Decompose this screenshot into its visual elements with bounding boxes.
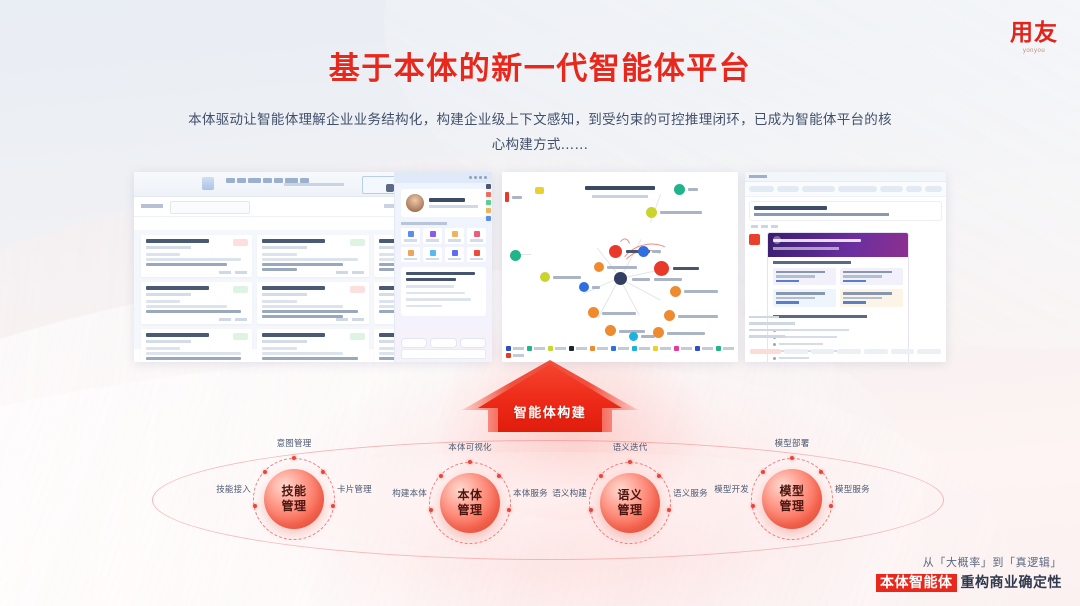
graph-node-label bbox=[632, 278, 650, 281]
app-icon bbox=[202, 177, 214, 190]
assistant-message bbox=[401, 267, 486, 316]
agent-card[interactable] bbox=[141, 282, 252, 324]
legend-item[interactable] bbox=[674, 346, 692, 351]
assistant-side-panel[interactable] bbox=[394, 172, 492, 362]
metric-tile[interactable] bbox=[773, 289, 836, 307]
metric-tile[interactable] bbox=[773, 268, 836, 286]
quick-action[interactable] bbox=[467, 247, 486, 263]
graph-node-label bbox=[673, 267, 699, 270]
graph-node-label bbox=[512, 196, 522, 199]
assistant-profile bbox=[401, 189, 486, 217]
legend-item[interactable] bbox=[653, 346, 671, 351]
node-title-line2: 管理 bbox=[457, 503, 482, 518]
node-title-line2: 管理 bbox=[779, 499, 804, 514]
build-arrow: 智能体构建 bbox=[462, 358, 638, 432]
panel-a-title-text bbox=[284, 183, 344, 186]
result-card-header bbox=[768, 233, 908, 257]
ring-dot bbox=[657, 474, 661, 478]
graph-marker[interactable] bbox=[505, 192, 509, 202]
legend-item[interactable] bbox=[548, 346, 566, 351]
graph-node[interactable] bbox=[670, 286, 681, 297]
ring-dot bbox=[292, 456, 296, 460]
node-sphere[interactable]: 技能 管理 bbox=[264, 469, 324, 529]
node-sphere[interactable]: 本体 管理 bbox=[440, 473, 500, 533]
node-title-line1: 模型 bbox=[779, 484, 804, 499]
legend-item[interactable] bbox=[590, 346, 608, 351]
graph-node-label bbox=[607, 266, 637, 269]
ring-dot bbox=[628, 460, 632, 464]
agent-card[interactable] bbox=[257, 329, 368, 362]
node-caption-top: 模型部署 bbox=[775, 437, 810, 449]
graph-node-label bbox=[678, 315, 718, 318]
assistant-answer bbox=[745, 232, 946, 363]
legend-item[interactable] bbox=[632, 346, 650, 351]
graph-node[interactable] bbox=[605, 325, 616, 336]
quick-actions-grid bbox=[401, 228, 486, 262]
ring-dot bbox=[667, 508, 671, 512]
graph-node[interactable] bbox=[646, 207, 657, 218]
ring-dot bbox=[439, 474, 443, 478]
capability-node-semantic[interactable]: 语义 管理 语义迭代 语义构建 语义服务 bbox=[589, 462, 671, 544]
ring-dot bbox=[321, 470, 325, 474]
slogan-line-1: 从「大概率」到「真逻辑」 bbox=[876, 557, 1062, 568]
graph-node[interactable] bbox=[629, 332, 638, 341]
quick-action[interactable] bbox=[401, 247, 420, 263]
graph-node-label bbox=[660, 211, 702, 214]
avatar bbox=[406, 194, 424, 212]
graph-node[interactable] bbox=[609, 245, 622, 258]
ring-dot bbox=[589, 508, 593, 512]
answer-followups bbox=[749, 316, 805, 342]
graph-node[interactable] bbox=[653, 327, 664, 338]
node-caption-left: 模型开发 bbox=[714, 483, 749, 495]
footer-slogan: 从「大概率」到「真逻辑」 本体智能体 重构商业确定性 bbox=[876, 557, 1062, 592]
slide-canvas: 用友 yonyou 基于本体的新一代智能体平台 本体驱动让智能体理解企业业务结构… bbox=[0, 0, 1080, 606]
user-question-bubble bbox=[749, 201, 942, 221]
panel-a-badge-icon bbox=[386, 184, 394, 192]
node-title-line1: 语义 bbox=[617, 488, 642, 503]
node-caption-top: 本体可视化 bbox=[448, 441, 492, 453]
capability-node-skill[interactable]: 技能 管理 意图管理 技能接入 卡片管理 bbox=[253, 458, 335, 540]
graph-node[interactable] bbox=[510, 250, 521, 261]
node-caption-right: 模型服务 bbox=[835, 483, 870, 495]
graph-node[interactable] bbox=[674, 184, 685, 195]
assistant-suggestions[interactable] bbox=[401, 338, 486, 348]
graph-title bbox=[585, 186, 655, 190]
node-title-line1: 本体 bbox=[457, 488, 482, 503]
panel-c-titlebar bbox=[745, 172, 946, 182]
list-item[interactable] bbox=[773, 343, 903, 346]
list-item[interactable] bbox=[773, 357, 903, 360]
node-caption-top: 语义迭代 bbox=[613, 441, 648, 453]
filter-label bbox=[141, 204, 163, 208]
graph-node-label bbox=[652, 250, 661, 253]
graph-node-label bbox=[602, 312, 636, 315]
panel-knowledge-graph[interactable] bbox=[502, 172, 738, 362]
node-caption-right: 语义服务 bbox=[673, 487, 708, 499]
message-actions[interactable] bbox=[745, 225, 946, 232]
node-caption-left: 语义构建 bbox=[552, 487, 587, 499]
legend-item[interactable] bbox=[506, 346, 524, 351]
quick-actions-label bbox=[401, 222, 447, 225]
agent-card[interactable] bbox=[257, 235, 368, 277]
assistant-avatar-icon bbox=[749, 234, 760, 245]
graph-node[interactable] bbox=[664, 310, 675, 321]
graph-node-label bbox=[688, 188, 698, 191]
search-input[interactable] bbox=[170, 201, 250, 214]
node-title-line2: 管理 bbox=[281, 499, 306, 514]
ring-dot bbox=[761, 470, 765, 474]
result-card[interactable] bbox=[767, 232, 909, 363]
graph-node-label bbox=[684, 290, 718, 293]
quick-action[interactable] bbox=[467, 228, 486, 244]
product-screenshot-strip bbox=[134, 172, 946, 362]
graph-canvas[interactable] bbox=[502, 172, 738, 362]
graph-subtitle bbox=[592, 195, 648, 198]
quick-action[interactable] bbox=[401, 228, 420, 244]
brand-logo-cn: 用友 bbox=[1010, 22, 1058, 45]
node-caption-left: 技能接入 bbox=[216, 483, 251, 495]
graph-node-label bbox=[654, 278, 682, 281]
slogan-highlight: 本体智能体 bbox=[876, 574, 957, 592]
panel-c-chipbar[interactable] bbox=[745, 182, 946, 197]
assistant-panel-header bbox=[395, 172, 492, 183]
ring-dot bbox=[790, 456, 794, 460]
result-card-section bbox=[768, 257, 908, 311]
quick-action[interactable] bbox=[445, 228, 464, 244]
node-caption-left: 构建本体 bbox=[392, 487, 427, 499]
ring-dot bbox=[429, 508, 433, 512]
agent-card[interactable] bbox=[257, 282, 368, 324]
panel-assistant-chat[interactable] bbox=[745, 172, 946, 362]
node-caption-top: 意图管理 bbox=[277, 437, 312, 449]
quick-action[interactable] bbox=[445, 247, 464, 263]
node-sphere[interactable]: 模型 管理 bbox=[762, 469, 822, 529]
ring-dot bbox=[263, 470, 267, 474]
build-arrow-label: 智能体构建 bbox=[462, 402, 638, 421]
panel-c-footer-actions[interactable] bbox=[745, 349, 946, 354]
ring-dot bbox=[468, 460, 472, 464]
legend-item[interactable] bbox=[695, 346, 713, 351]
capability-node-model[interactable]: 模型 管理 模型部署 模型开发 模型服务 bbox=[751, 458, 833, 540]
node-title-line1: 技能 bbox=[281, 484, 306, 499]
ring-dot bbox=[253, 504, 257, 508]
legend-item[interactable] bbox=[611, 346, 629, 351]
legend-item[interactable] bbox=[527, 346, 545, 351]
ring-dot bbox=[819, 470, 823, 474]
graph-node-center[interactable] bbox=[614, 272, 627, 285]
window-controls[interactable] bbox=[469, 176, 487, 179]
graph-node-label bbox=[592, 286, 600, 289]
graph-node[interactable] bbox=[588, 307, 599, 318]
slogan-rest: 重构商业确定性 bbox=[961, 576, 1063, 590]
graph-legend bbox=[506, 346, 734, 358]
ring-dot bbox=[507, 508, 511, 512]
graph-node-label bbox=[553, 276, 581, 279]
assistant-toolrail[interactable] bbox=[485, 184, 492, 221]
capability-node-ontology[interactable]: 本体 管理 本体可视化 构建本体 本体服务 bbox=[429, 462, 511, 544]
agent-card[interactable] bbox=[141, 235, 252, 277]
graph-node[interactable] bbox=[579, 282, 589, 292]
node-caption-right: 本体服务 bbox=[513, 487, 548, 499]
agent-card[interactable] bbox=[141, 329, 252, 362]
ring-dot bbox=[829, 504, 833, 508]
metric-tile[interactable] bbox=[840, 268, 903, 286]
graph-node[interactable] bbox=[638, 246, 649, 257]
quick-action[interactable] bbox=[423, 228, 442, 244]
legend-item[interactable] bbox=[716, 346, 734, 351]
ring-dot bbox=[751, 504, 755, 508]
node-title-line2: 管理 bbox=[617, 503, 642, 518]
graph-node[interactable] bbox=[535, 187, 544, 194]
page-subtitle: 本体驱动让智能体理解企业业务结构化，构建企业级上下文感知，到受约束的可控推理闭环… bbox=[188, 108, 892, 158]
metric-tile[interactable] bbox=[840, 289, 903, 307]
node-caption-right: 卡片管理 bbox=[337, 483, 372, 495]
graph-node[interactable] bbox=[540, 272, 550, 282]
panel-agent-marketplace[interactable] bbox=[134, 172, 492, 362]
ring-dot bbox=[497, 474, 501, 478]
legend-item[interactable] bbox=[569, 346, 587, 351]
node-sphere[interactable]: 语义 管理 bbox=[600, 473, 660, 533]
quick-action[interactable] bbox=[423, 247, 442, 263]
ring-dot bbox=[599, 474, 603, 478]
ring-dot bbox=[331, 504, 335, 508]
page-title: 基于本体的新一代智能体平台 bbox=[0, 43, 1080, 88]
graph-node[interactable] bbox=[594, 262, 604, 272]
graph-node-label bbox=[667, 332, 705, 335]
graph-node[interactable] bbox=[654, 261, 669, 276]
